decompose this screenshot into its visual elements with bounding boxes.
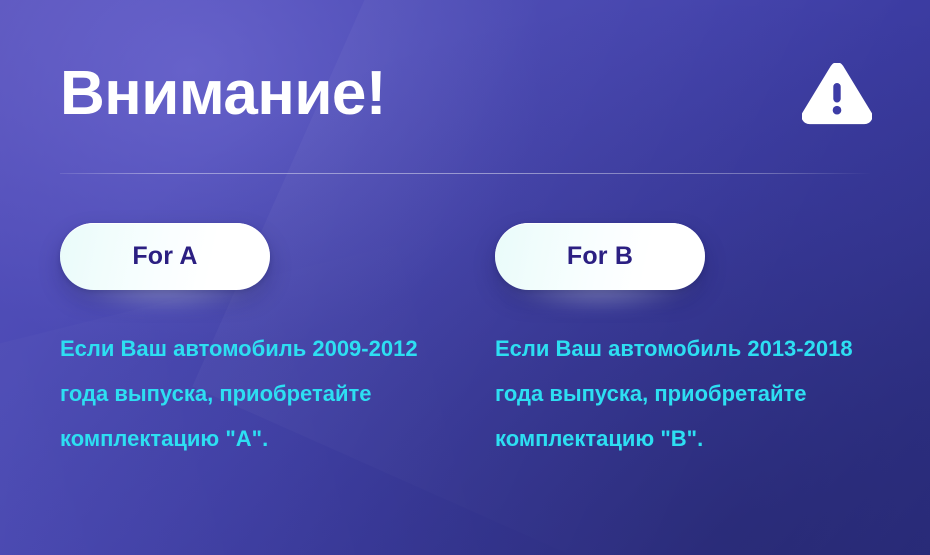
option-column-a: For A Если Ваш автомобиль 2009-2012 года… [60,223,270,461]
option-b-button-wrap: For B [495,223,705,290]
option-a-button-wrap: For A [60,223,270,290]
page-title: Внимание! [60,63,386,125]
for-a-button[interactable]: For A [60,223,270,290]
option-b-description: Если Ваш автомобиль 2013-2018 года выпус… [495,290,875,461]
options-row: For A Если Ваш автомобиль 2009-2012 года… [60,223,872,461]
for-b-button[interactable]: For B [495,223,705,290]
attention-banner: Внимание! For A Если Ваш автомобиль 2009… [0,0,930,555]
option-column-b: For B Если Ваш автомобиль 2013-2018 года… [495,223,705,461]
header-divider [60,173,872,174]
banner-header: Внимание! [60,52,874,136]
option-a-description: Если Ваш автомобиль 2009-2012 года выпус… [60,290,440,461]
warning-triangle-icon [802,63,872,125]
